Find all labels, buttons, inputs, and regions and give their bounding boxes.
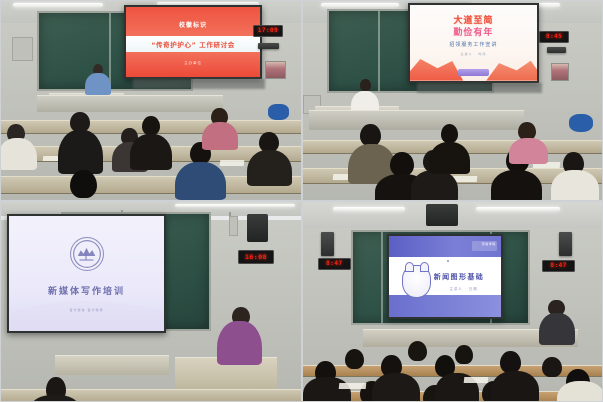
student-head	[408, 341, 427, 361]
student-head	[441, 124, 459, 143]
photo-panel-top-left[interactable]: 校徽标识 “传奇护护心” 工作研讨会 主办单位 17:09	[0, 0, 302, 201]
stage-front	[309, 110, 524, 130]
projection-screen[interactable]: 传媒学院 新闻图形基础 主讲人 · 日期	[387, 234, 504, 320]
photo-panel-bottom-right[interactable]: 传媒学院 新闻图形基础 主讲人 · 日期 8:47 8:47	[302, 201, 603, 402]
wall-conduit	[229, 216, 238, 236]
slide-bottom-right: 传媒学院 新闻图形基础 主讲人 · 日期	[389, 236, 502, 318]
student-head	[390, 152, 414, 176]
student-head	[259, 132, 279, 152]
student-head	[70, 170, 97, 198]
speaker-box	[321, 232, 334, 256]
student-head	[345, 349, 364, 369]
paper-sheet	[464, 377, 489, 383]
ceiling-light	[476, 207, 560, 211]
student-head	[542, 357, 561, 377]
speaker-box	[258, 43, 279, 49]
student-body	[0, 138, 37, 170]
presenter-body	[217, 321, 262, 365]
slide-book-graphic	[458, 69, 489, 76]
student-body	[429, 142, 471, 174]
student-body	[491, 371, 539, 402]
wall-speaker	[247, 214, 268, 242]
slide-footer-bar	[389, 295, 502, 318]
student-head	[455, 345, 473, 364]
photo-panel-bottom-left[interactable]: 新媒体写作培训 官方微信 官方微博 16:08	[0, 201, 302, 402]
slide-title: 新媒体写作培训	[9, 284, 164, 297]
stage-front	[55, 355, 169, 375]
seal-mountain-glyph	[78, 247, 96, 256]
slide-top-left: 校徽标识 “传奇护护心” 工作研讨会 主办单位	[126, 7, 260, 77]
student-body	[303, 377, 351, 402]
student-body	[202, 122, 238, 150]
slide-mountain-left	[408, 55, 464, 81]
student-head	[360, 124, 381, 146]
ceiling-projector	[426, 204, 459, 226]
digital-clock: 17:09	[253, 25, 283, 37]
photo-collage-grid: 校徽标识 “传奇护护心” 工作研讨会 主办单位 17:09	[0, 0, 603, 402]
chalkboard-divider	[378, 11, 380, 91]
slide-title-line1: 大道至简	[410, 13, 538, 26]
slide-subtitle: 主讲人 · 日期	[450, 286, 497, 291]
ceiling-light	[321, 3, 399, 7]
student-body	[130, 134, 172, 170]
ceiling-light	[175, 204, 295, 207]
student-body	[509, 138, 548, 164]
speaker-box	[559, 232, 572, 256]
slide-subtitle: 招领服务工作宣讲	[410, 41, 538, 48]
ceiling-light	[13, 3, 103, 7]
slide-accent-dot	[447, 260, 449, 262]
screen-shadow	[417, 83, 543, 93]
paper-sheet	[339, 383, 367, 389]
student-body	[247, 150, 292, 186]
student-body	[411, 170, 459, 201]
classroom-scene-top-right: 大道至简 勤俭有年 招领服务工作宣讲 主讲人 · 时间 8:45	[303, 1, 602, 200]
backpack	[569, 114, 593, 132]
ceiling-light	[333, 207, 405, 211]
speaker-box	[547, 47, 566, 53]
presenter-body	[85, 73, 111, 95]
digital-clock: 16:08	[238, 250, 274, 264]
chalkboard-divider	[109, 13, 111, 89]
classroom-scene-bottom-left: 新媒体写作培训 官方微信 官方微博 16:08	[1, 202, 301, 401]
wall-poster	[265, 61, 286, 79]
projection-screen[interactable]: 新媒体写作培训 官方微信 官方微博	[7, 214, 166, 333]
backpack	[268, 104, 289, 120]
screen-shadow	[133, 79, 265, 89]
digital-clock-right: 8:47	[542, 260, 575, 272]
stage-front	[37, 95, 223, 113]
presenter-head	[360, 79, 371, 91]
student-head	[142, 116, 160, 135]
student-body	[58, 130, 103, 174]
slide-title-line2: 勤俭有年	[410, 25, 538, 38]
wall-panel	[12, 37, 33, 61]
slide-footer-logos: 官方微信 官方微博	[9, 308, 164, 312]
digital-clock-left: 8:47	[318, 258, 351, 270]
classroom-scene-bottom-right: 传媒学院 新闻图形基础 主讲人 · 日期 8:47 8:47	[303, 202, 602, 401]
classroom-scene-top-left: 校徽标识 “传奇护护心” 工作研讨会 主办单位 17:09	[1, 1, 301, 200]
student-body	[491, 170, 542, 201]
slide-mountain-right	[486, 56, 539, 80]
slide-emblem-text: 校徽标识	[126, 20, 260, 29]
projection-screen[interactable]: 校徽标识 “传奇护护心” 工作研讨会 主办单位	[124, 5, 262, 79]
student-body	[372, 373, 420, 402]
student-head	[500, 351, 521, 373]
wall-poster	[551, 63, 569, 81]
tiger-mascot-icon	[402, 265, 431, 298]
student-body	[551, 170, 599, 201]
paper-sheet	[220, 160, 245, 166]
student-body	[557, 381, 603, 402]
chalkboard-divider	[381, 232, 383, 324]
presenter-body	[539, 313, 575, 345]
digital-clock: 8:45	[539, 31, 569, 43]
slide-brand-label: 传媒学院	[482, 242, 496, 246]
university-seal-icon	[70, 237, 104, 271]
slide-footer: 主讲人 · 时间	[410, 52, 538, 56]
slide-bottom-left: 新媒体写作培训 官方微信 官方微博	[9, 216, 164, 331]
student-body	[175, 162, 226, 200]
slide-title: 新闻图形基础	[434, 272, 497, 282]
photo-panel-top-right[interactable]: 大道至简 勤俭有年 招领服务工作宣讲 主讲人 · 时间 8:45	[302, 0, 603, 201]
slide-subtitle: 主办单位	[126, 61, 260, 66]
slide-top-right: 大道至简 勤俭有年 招领服务工作宣讲 主讲人 · 时间	[410, 5, 538, 81]
projection-screen[interactable]: 大道至简 勤俭有年 招领服务工作宣讲 主讲人 · 时间	[408, 3, 540, 83]
slide-title: “传奇护护心” 工作研讨会	[126, 39, 260, 49]
student-head	[70, 112, 90, 132]
slide-arc-graphic	[7, 301, 166, 333]
